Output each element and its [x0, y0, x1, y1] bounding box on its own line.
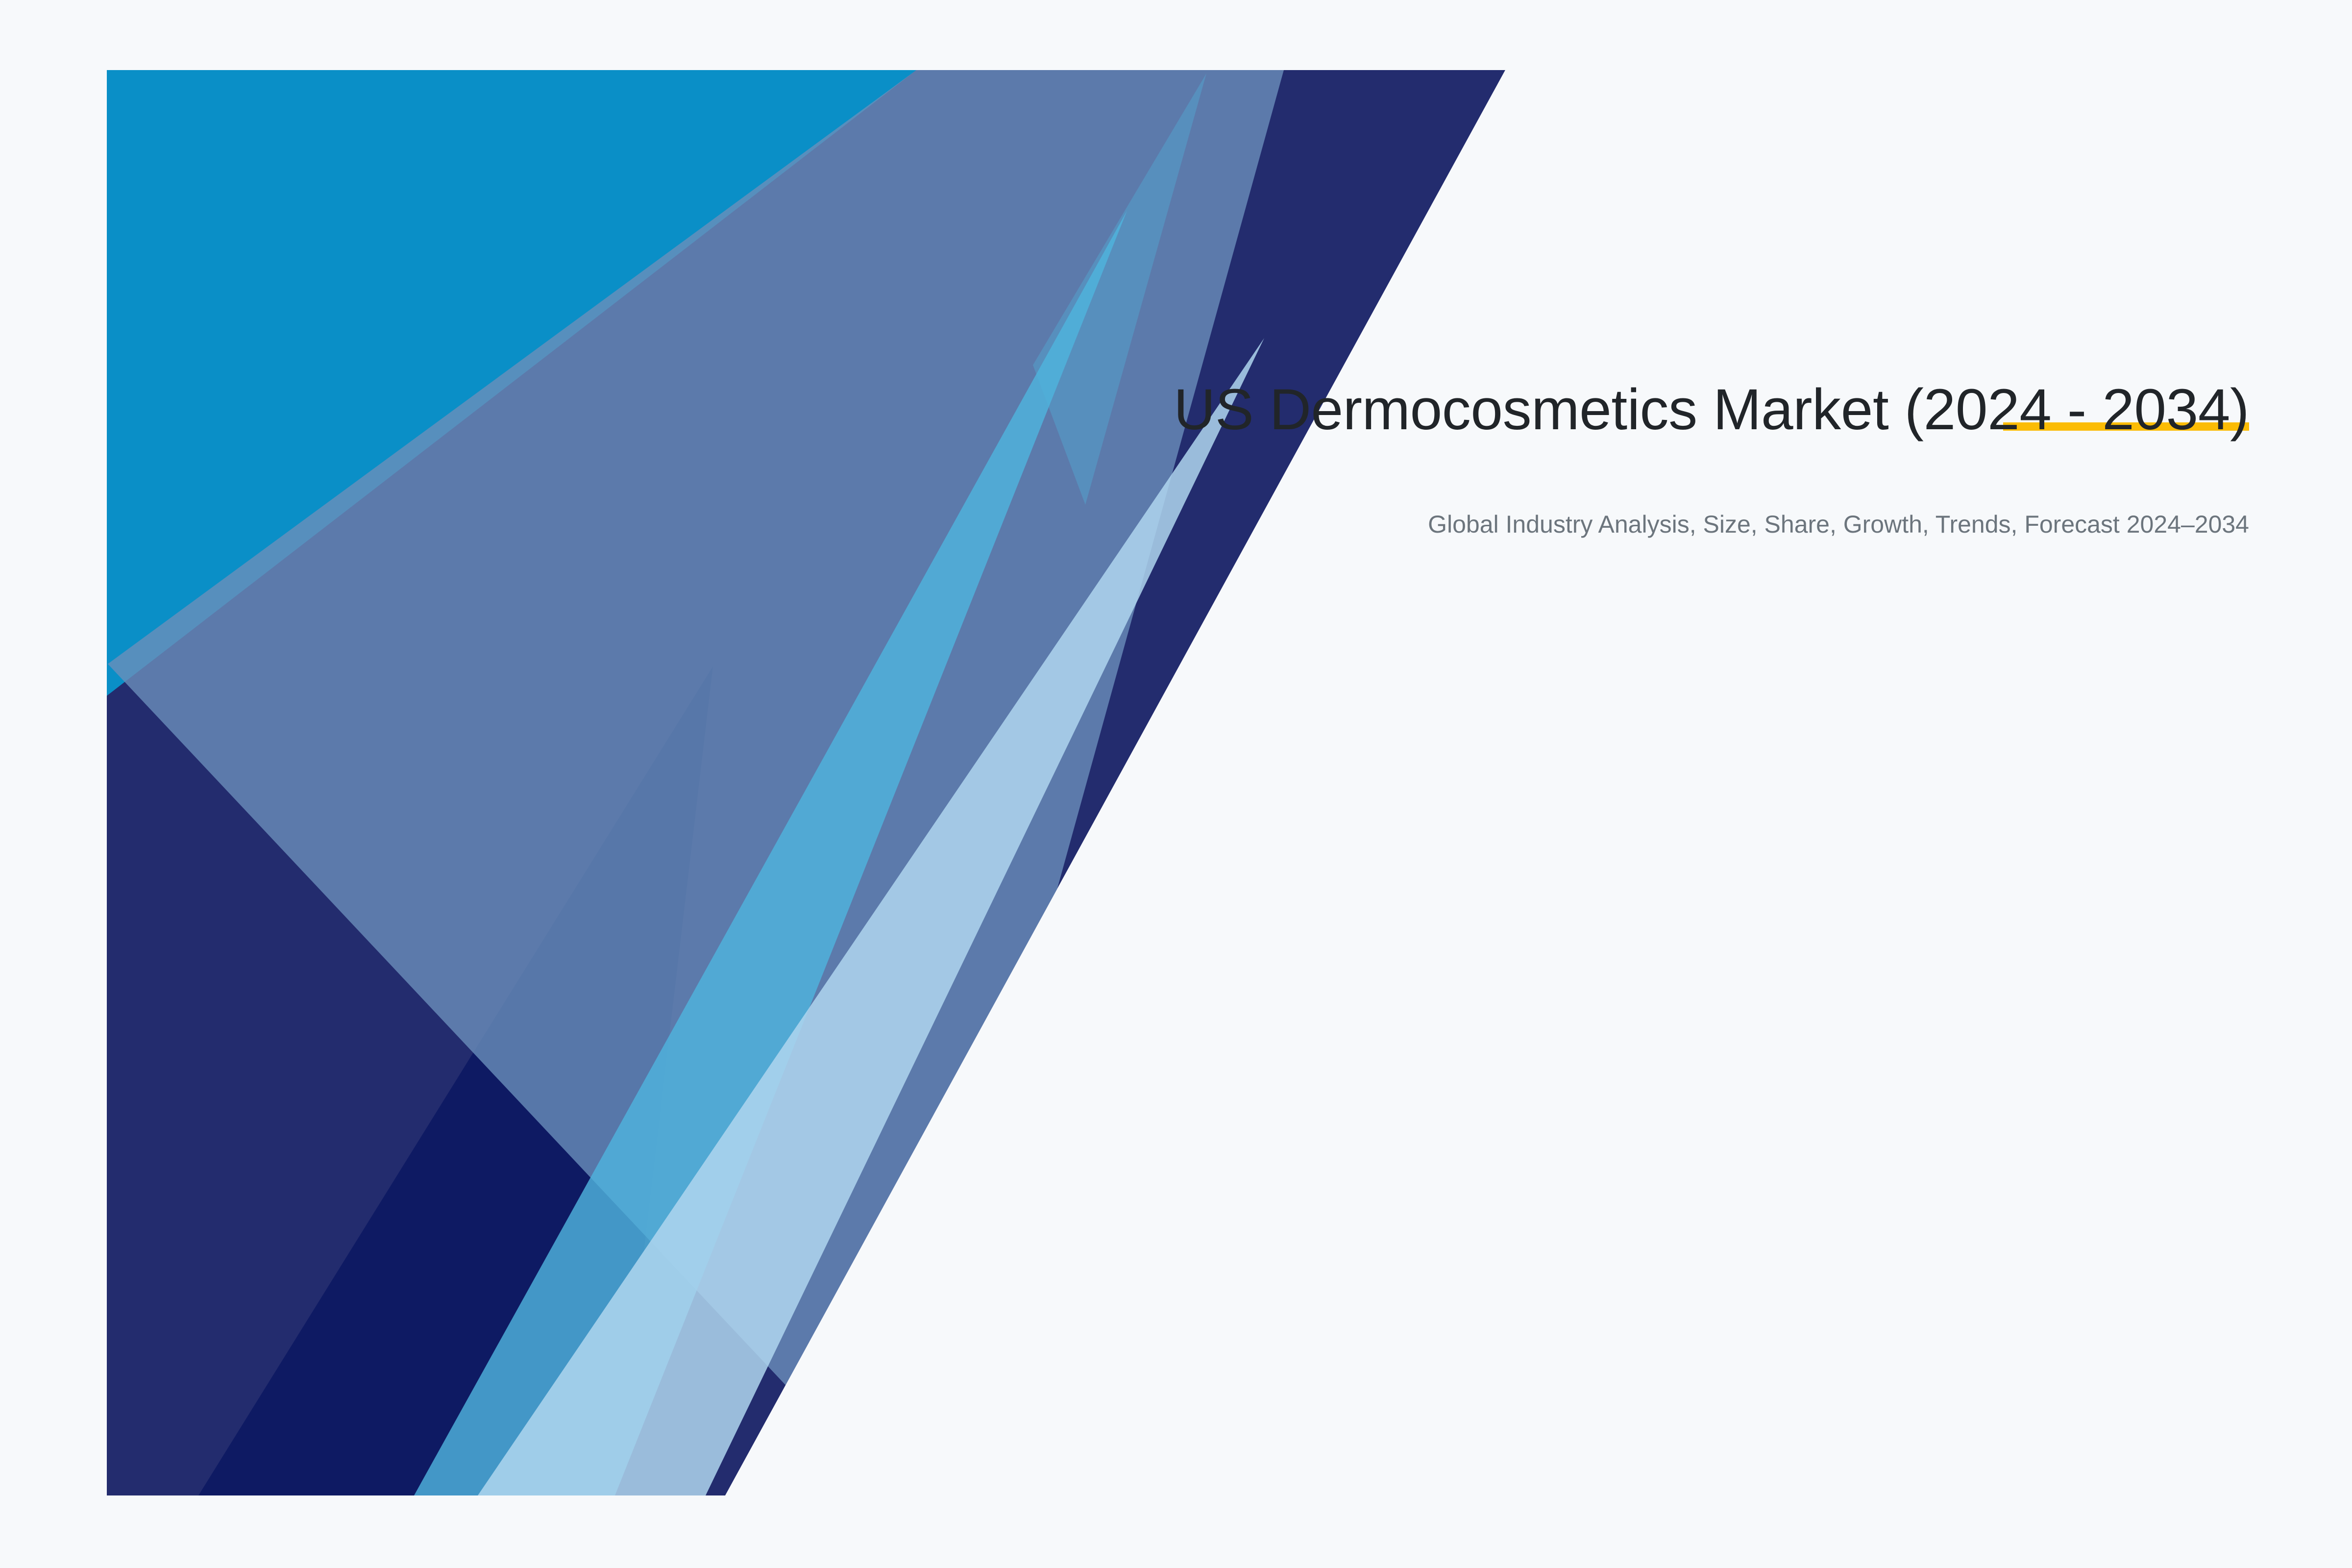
cover-text-block: US Dermocosmetics Market (2024 - 2034) G…: [916, 372, 2249, 542]
slate-blue-quad: [108, 70, 1284, 1495]
page-subtitle: Global Industry Analysis, Size, Share, G…: [916, 507, 2249, 542]
cyan-top-left-field: [107, 70, 916, 696]
title-wrapper: US Dermocosmetics Market (2024 - 2034): [916, 372, 2249, 447]
page-title: US Dermocosmetics Market (2024 - 2034): [916, 372, 2249, 447]
cover-backdrop: [0, 0, 2352, 1568]
deep-navy-lower-spike: [198, 666, 713, 1495]
report-cover: US Dermocosmetics Market (2024 - 2034) G…: [0, 0, 2352, 1568]
navy-top-right-wedge: [107, 70, 1505, 1495]
abstract-geometric-cover-art: [0, 0, 2352, 1568]
